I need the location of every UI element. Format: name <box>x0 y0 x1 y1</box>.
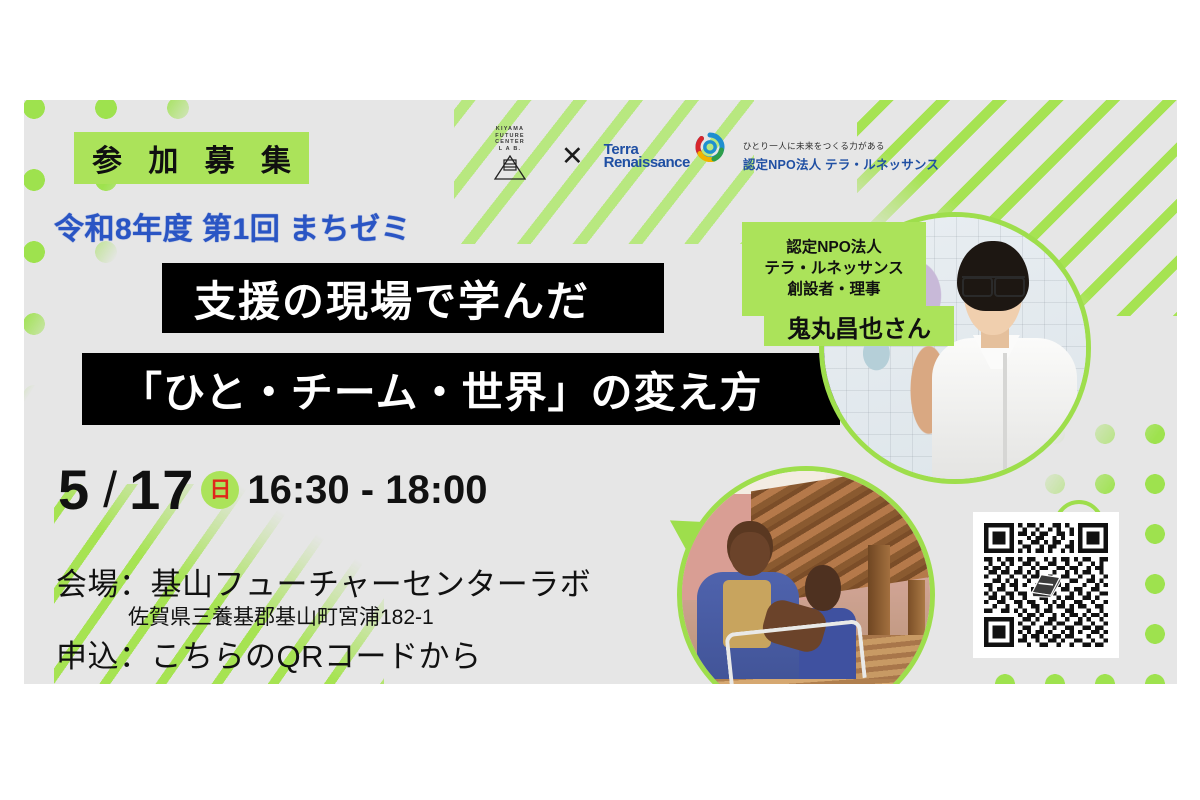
qr-code[interactable] <box>973 512 1119 658</box>
terra-org-name: 認定NPO法人 テラ・ルネッサンス <box>743 154 939 173</box>
terra-renaissance-logo: Terra Renaissance <box>604 132 725 181</box>
logo-row: KIYAMA FUTURE CENTER L A B. ✕ Terra <box>479 122 939 190</box>
vocational-training-photo <box>677 466 935 684</box>
poster-stage: KIYAMA FUTURE CENTER L A B. ✕ Terra <box>0 0 1200 800</box>
terra-tagline-block: ひとり一人に未来をつくる力がある 認定NPO法人 テラ・ルネッサンス <box>743 140 939 173</box>
title-line-1: 支援の現場で学んだ <box>162 263 664 333</box>
weekday-badge: 日 <box>201 471 239 509</box>
speaker-name: 鬼丸昌也さん <box>787 309 931 344</box>
speaker-org-line1: 認定NPO法人 <box>786 238 882 258</box>
house-icon <box>493 155 527 186</box>
speaker-role: 創設者・理事 <box>787 280 880 300</box>
weekday-label: 日 <box>209 479 231 501</box>
venue-address: 佐賀県三養基郡基山町宮浦182-1 <box>128 601 434 631</box>
speaker-figure <box>929 217 1086 479</box>
event-time: 16:30 - 18:00 <box>247 468 487 512</box>
speaker-org-badge: 認定NPO法人 テラ・ルネッサンス 創設者・理事 <box>742 222 926 316</box>
event-poster: KIYAMA FUTURE CENTER L A B. ✕ Terra <box>24 100 1177 684</box>
apply-line: 申込：こちらのQRコードから <box>56 631 482 676</box>
kiyama-logo-line4: L A B. <box>499 146 522 153</box>
venue-line: 会場：基山フューチャーセンターラボ <box>56 559 591 604</box>
speaker-org-line2: テラ・ルネッサンス <box>764 259 903 279</box>
date-separator: / <box>103 462 117 518</box>
recruitment-badge-label: 参 加 募 集 <box>83 136 300 180</box>
event-subtitle: 令和8年度 第1回 まちゼミ <box>54 204 411 248</box>
event-day: 17 <box>129 462 195 518</box>
swirl-logo-icon <box>695 132 725 167</box>
recruitment-badge: 参 加 募 集 <box>74 132 309 184</box>
terra-tagline: ひとり一人に未来をつくる力がある <box>743 140 939 152</box>
speaker-name-badge: 鬼丸昌也さん <box>764 306 954 346</box>
event-month: 5 <box>58 462 91 518</box>
cross-icon: ✕ <box>553 143 592 170</box>
schedule-row: 5 / 17 日 16:30 - 18:00 <box>58 462 488 518</box>
terra-logo-line2: Renaissance <box>604 156 690 169</box>
kiyama-future-center-lab-logo: KIYAMA FUTURE CENTER L A B. <box>479 126 541 186</box>
title-line-2: 「ひと・チーム・世界」の変え方 <box>82 353 840 425</box>
